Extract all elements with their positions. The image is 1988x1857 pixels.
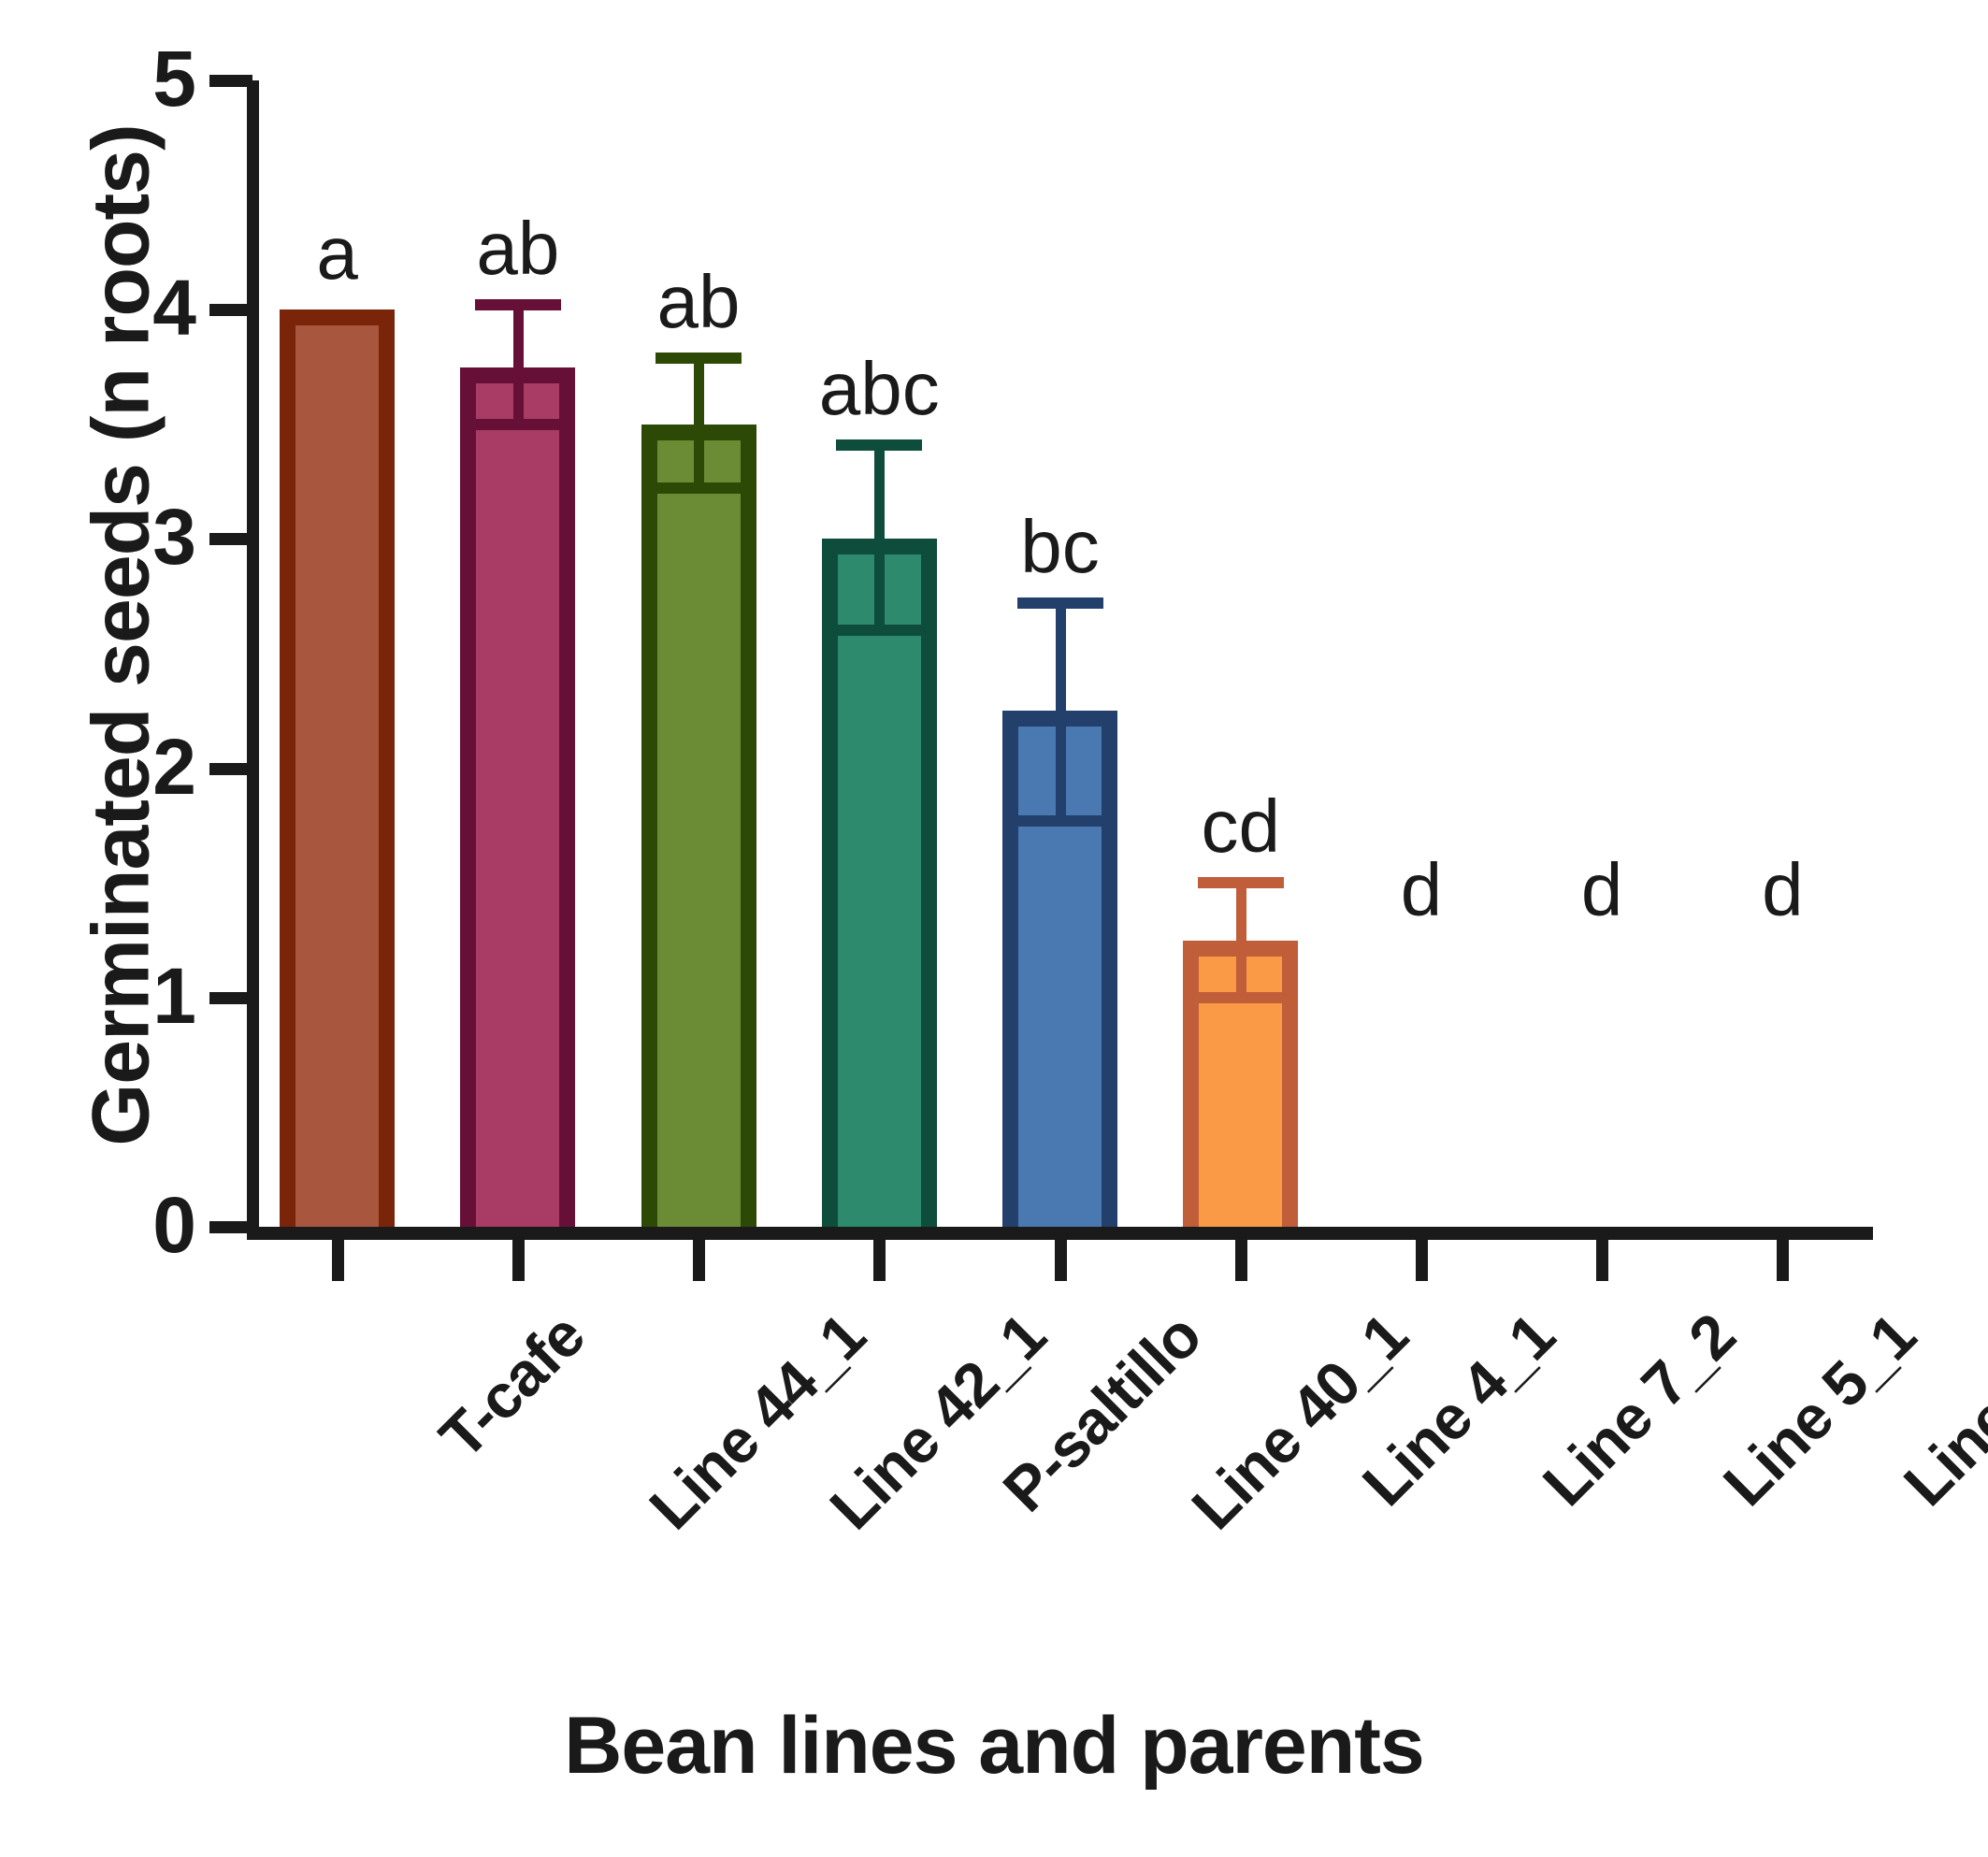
error-bar-cap-upper [475, 299, 561, 310]
significance-letter: d [1499, 853, 1705, 928]
x-axis-line [247, 1227, 1873, 1240]
error-bar-stem [694, 358, 704, 489]
x-tick-8 [1777, 1240, 1789, 1281]
error-bar-stem [513, 305, 524, 425]
y-tick-label-2: 2 [112, 727, 196, 806]
y-tick-label-1: 1 [112, 957, 196, 1035]
x-tick-5 [1235, 1240, 1247, 1281]
y-tick-label-0: 0 [112, 1186, 196, 1264]
x-tick-3 [873, 1240, 886, 1281]
y-tick-1 [209, 992, 252, 1004]
x-tick-6 [1416, 1240, 1428, 1281]
error-bar-cap-lower [836, 625, 922, 636]
x-category-label: Line 7_2 [1529, 1300, 1749, 1519]
y-tick-5 [209, 75, 252, 87]
x-category-label: T-cafe [425, 1300, 598, 1472]
x-tick-1 [512, 1240, 525, 1281]
x-tick-0 [332, 1240, 344, 1281]
error-bar-stem [1056, 603, 1066, 821]
y-tick-label-5: 5 [112, 39, 196, 118]
bar [822, 539, 937, 1227]
error-bar-cap-lower [475, 419, 561, 430]
y-tick-label-4: 4 [112, 268, 196, 347]
error-bar-cap-lower [655, 482, 742, 494]
bar [460, 367, 575, 1228]
bar [641, 425, 756, 1227]
error-bar-cap-lower [1198, 992, 1284, 1003]
error-bar-cap-lower [1017, 815, 1103, 827]
y-tick-4 [209, 304, 252, 316]
y-tick-0 [209, 1221, 252, 1233]
significance-letter: abc [776, 352, 982, 426]
y-tick-2 [209, 763, 252, 775]
error-bar-stem [1236, 883, 1246, 998]
x-tick-7 [1596, 1240, 1608, 1281]
y-tick-label-3: 3 [112, 497, 196, 576]
bar [280, 309, 395, 1227]
error-bar-cap-upper [1017, 597, 1103, 609]
error-bar-stem [874, 445, 885, 631]
x-tick-2 [693, 1240, 705, 1281]
significance-letter: ab [596, 265, 801, 339]
x-category-label: Line 40_1 [1177, 1300, 1420, 1543]
error-bar-cap-upper [836, 439, 922, 451]
error-bar-cap-upper [655, 353, 742, 364]
significance-letter: bc [958, 510, 1163, 584]
chart-figure: Germinated seeds (n roots) Bean lines an… [0, 0, 1988, 1857]
significance-letter: a [235, 216, 440, 291]
y-tick-3 [209, 533, 252, 545]
significance-letter: d [1679, 853, 1885, 928]
significance-letter: d [1318, 853, 1524, 928]
significance-letter: cd [1138, 789, 1344, 864]
error-bar-cap-upper [1198, 877, 1284, 888]
x-category-label: Line 5_1 [1709, 1300, 1929, 1519]
significance-letter: ab [415, 211, 621, 286]
x-tick-4 [1055, 1240, 1067, 1281]
plot-area: 012345 aabababcbccdddd T-cafeLine 44_1Li… [0, 0, 1988, 1857]
